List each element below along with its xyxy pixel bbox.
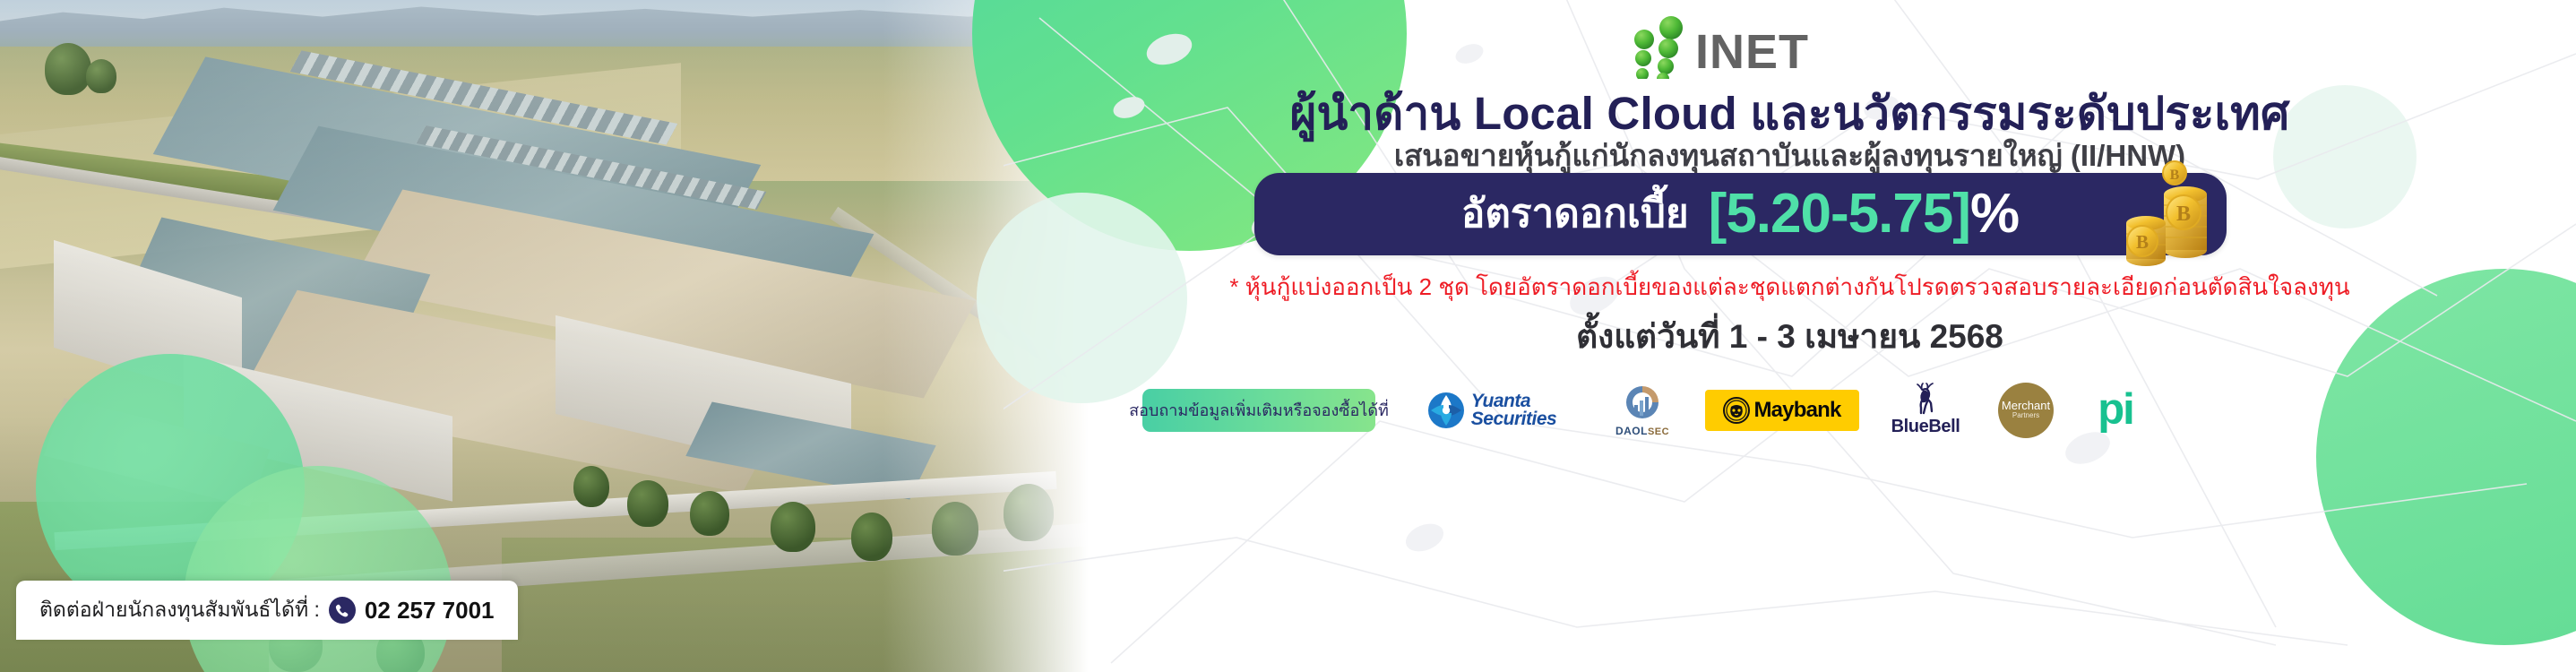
offering-footnote: * หุ้นกู้แบ่งออกเป็น 2 ชุด โดยอัตราดอกเบ…: [1004, 269, 2576, 306]
banner-content: INET ผู้นำด้าน Local Cloud และนวัตกรรมระ…: [1004, 0, 2576, 672]
inquiry-cta-button[interactable]: สอบถามข้อมูลเพิ่มเติมหรือจองซื้อได้ที่: [1142, 389, 1375, 432]
interest-rate-label: อัตราดอกเบี้ย: [1461, 194, 1689, 234]
merchant-line1: Merchant: [2002, 400, 2050, 411]
interest-rate-value: [5.20-5.75]: [1709, 186, 1970, 242]
partner-logo-maybank[interactable]: Maybank: [1705, 380, 1859, 441]
partner-logo-pi[interactable]: pi: [2081, 380, 2150, 441]
svg-text:B: B: [2170, 168, 2180, 183]
partner-logo-bluebell[interactable]: BlueBell: [1879, 380, 1972, 441]
percent-sign: %: [1970, 186, 2020, 242]
partner-logo-yuanta[interactable]: Yuanta Securities: [1406, 380, 1578, 441]
inet-logo: INET: [1622, 16, 1944, 79]
maybank-tiger-head-icon: [1723, 397, 1750, 424]
svg-text:B: B: [2136, 231, 2149, 253]
maybank-wordmark: Maybank: [1753, 398, 1840, 423]
investor-relations-contact[interactable]: ติดต่อฝ่ายนักลงทุนสัมพันธ์ได้ที่ : 02 25…: [16, 581, 518, 640]
tree: [771, 502, 815, 552]
tree: [86, 59, 116, 93]
tree: [627, 480, 668, 527]
svg-text:B: B: [2176, 202, 2191, 226]
bluebell-deer-icon: [1910, 383, 1941, 415]
contact-label: ติดต่อฝ่ายนักลงทุนสัมพันธ์ได้ที่ :: [39, 594, 320, 626]
contact-phone-number: 02 257 7001: [365, 597, 495, 625]
daol-wordmark: DAOLSEC: [1615, 425, 1669, 437]
offering-dateline: ตั้งแต่วันที่ 1 - 3 เมษายน 2568: [1004, 310, 2576, 363]
partner-row: สอบถามข้อมูลเพิ่มเติมหรือจองซื้อได้ที่ Y…: [1004, 372, 2576, 448]
inet-wordmark: INET: [1695, 28, 1809, 76]
bluebell-wordmark: BlueBell: [1891, 417, 1960, 437]
partner-logo-merchant-partners[interactable]: Merchant Partners: [1988, 380, 2063, 441]
tree: [690, 491, 729, 536]
pi-wordmark: pi: [2098, 392, 2133, 427]
tree: [45, 43, 91, 95]
gold-coins-icon: B B B: [2117, 159, 2214, 270]
daol-pie-chart-icon: [1622, 383, 1663, 422]
tree: [573, 466, 609, 507]
interest-rate-box: อัตราดอกเบี้ย [5.20-5.75] %: [1254, 173, 2227, 255]
inet-bond-offering-banner: INET ผู้นำด้าน Local Cloud และนวัตกรรมระ…: [0, 0, 2576, 672]
merchant-line2: Partners: [2012, 411, 2039, 420]
phone-icon: [329, 597, 356, 624]
yuanta-wordmark: Yuanta Securities: [1471, 392, 1556, 427]
merchant-partners-circle-icon: Merchant Partners: [1998, 383, 2054, 438]
partner-logo-daol[interactable]: DAOLSEC: [1599, 380, 1685, 441]
inet-green-dots-logo: [1622, 16, 1702, 79]
maybank-pill: Maybank: [1705, 390, 1859, 431]
yuanta-star-burst-icon: [1427, 392, 1465, 429]
